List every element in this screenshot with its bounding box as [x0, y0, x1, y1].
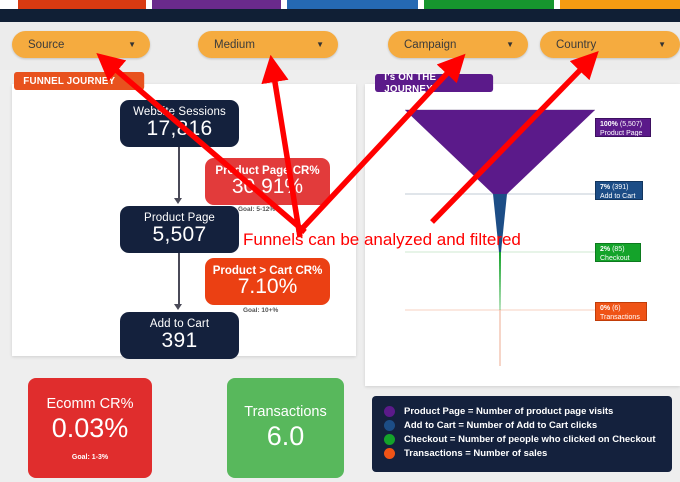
funnel-label-product-page-pct: 100%	[600, 121, 618, 128]
filter-bar: Source▼Medium▼Campaign▼Country▼	[0, 22, 680, 70]
cr-product-page-goal: Goal: 5-12%	[238, 206, 275, 213]
top-strip-gap	[0, 0, 18, 9]
funnel-label-add-to-cart-pct: 7%	[600, 184, 610, 191]
cr-product-page: Product Page CR% 30.91%	[205, 158, 330, 205]
funnel-journey-tab-label: FUNNEL JOURNEY	[23, 75, 115, 87]
filter-source-label: Source	[28, 39, 64, 51]
legend-row: Checkout = Number of people who clicked …	[384, 433, 662, 446]
legend-checkout-text: Checkout = Number of people who clicked …	[404, 434, 656, 445]
node-add-to-cart-value: 391	[162, 329, 198, 353]
legend-transactions-text: Transactions = Number of sales	[404, 448, 547, 459]
kpi-ecomm-cr-value: 0.03%	[52, 413, 129, 444]
funnel-label-transactions-pct: 0%	[600, 305, 610, 312]
funnel-label-add-to-cart: 7% (391) Add to Cart	[595, 181, 643, 200]
funnel-label-checkout: 2% (85) Checkout	[595, 243, 641, 262]
funnel-arrowhead-1	[174, 198, 182, 204]
funnel-label-product-page-count: (5,507)	[620, 121, 642, 128]
cr-product-to-cart-goal: Goal: 10+%	[243, 307, 278, 314]
top-strip-segment-purple	[152, 0, 281, 9]
funnel-label-product-page-stage: Product Page	[600, 130, 647, 138]
top-strip-segment-green	[424, 0, 554, 9]
chevron-down-icon: ▼	[658, 41, 666, 49]
chevron-down-icon: ▼	[506, 41, 514, 49]
legend-checkout-dot-icon	[384, 434, 395, 445]
legend-row: Transactions = Number of sales	[384, 447, 662, 460]
filter-campaign-label: Campaign	[404, 39, 456, 51]
top-strip-segment-blue	[287, 0, 418, 9]
chevron-down-icon: ▼	[128, 41, 136, 49]
legend-row: Product Page = Number of product page vi…	[384, 405, 662, 418]
kpi-transactions: Transactions 6.0	[227, 378, 344, 478]
funnel-label-transactions-stage: Transactions	[600, 314, 643, 322]
legend-transactions-dot-icon	[384, 448, 395, 459]
funnel-label-checkout-pct: 2%	[600, 246, 610, 253]
cr-product-to-cart-value: 7.10%	[238, 275, 298, 299]
funnel-label-transactions: 0% (6) Transactions	[595, 302, 647, 321]
node-website-sessions: Website Sessions 17,816	[120, 100, 239, 147]
funnel-segment-product-page	[405, 110, 595, 194]
funnel-segment-add-to-cart	[493, 194, 507, 252]
node-product-page-value: 5,507	[152, 223, 206, 247]
filter-campaign[interactable]: Campaign▼	[388, 31, 528, 58]
legend-product-page-text: Product Page = Number of product page vi…	[404, 406, 613, 417]
legend-add-to-cart-dot-icon	[384, 420, 395, 431]
funnel-journey-tab: FUNNEL JOURNEY	[14, 72, 144, 90]
chart-legend: Product Page = Number of product page vi…	[372, 396, 672, 472]
top-strip-segment-red	[18, 0, 146, 9]
funnel-label-product-page: 100% (5,507) Product Page	[595, 118, 651, 137]
dashboard-root: Source▼Medium▼Campaign▼Country▼ FUNNEL J…	[0, 0, 680, 482]
filter-medium-label: Medium	[214, 39, 255, 51]
filter-source[interactable]: Source▼	[12, 31, 150, 58]
funnel-label-checkout-count: (85)	[612, 246, 624, 253]
chevron-down-icon: ▼	[316, 41, 324, 49]
funnel-label-add-to-cart-stage: Add to Cart	[600, 193, 639, 201]
node-website-sessions-value: 17,816	[146, 117, 212, 141]
legend-product-page-dot-icon	[384, 406, 395, 417]
navbar	[0, 9, 680, 22]
kpi-transactions-label: Transactions	[244, 404, 326, 420]
funnel-connector-2	[178, 253, 180, 306]
legend-row: Add to Cart = Number of Add to Cart clic…	[384, 419, 662, 432]
filter-medium[interactable]: Medium▼	[198, 31, 338, 58]
kpi-transactions-value: 6.0	[267, 421, 305, 452]
filter-country-label: Country	[556, 39, 596, 51]
cr-product-to-cart: Product > Cart CR% 7.10%	[205, 258, 330, 305]
node-product-page: Product Page 5,507	[120, 206, 239, 253]
funnel-connector-1	[178, 147, 180, 200]
funnel-label-checkout-stage: Checkout	[600, 255, 637, 263]
funnel-label-add-to-cart-count: (391)	[612, 184, 628, 191]
legend-add-to-cart-text: Add to Cart = Number of Add to Cart clic…	[404, 420, 597, 431]
kpi-ecomm-cr: Ecomm CR% 0.03% Goal: 1-3%	[28, 378, 152, 478]
kpi-ecomm-cr-goal: Goal: 1-3%	[72, 454, 108, 461]
top-strip-segment-orange	[560, 0, 680, 9]
funnel-label-transactions-count: (6)	[612, 305, 621, 312]
node-add-to-cart: Add to Cart 391	[120, 312, 239, 359]
cr-product-page-value: 30.91%	[232, 175, 303, 199]
funnel-arrowhead-2	[174, 304, 182, 310]
top-color-strip	[0, 0, 680, 9]
filter-country[interactable]: Country▼	[540, 31, 680, 58]
kpi-ecomm-cr-label: Ecomm CR%	[46, 396, 133, 412]
funnel-segment-checkout	[499, 252, 501, 310]
